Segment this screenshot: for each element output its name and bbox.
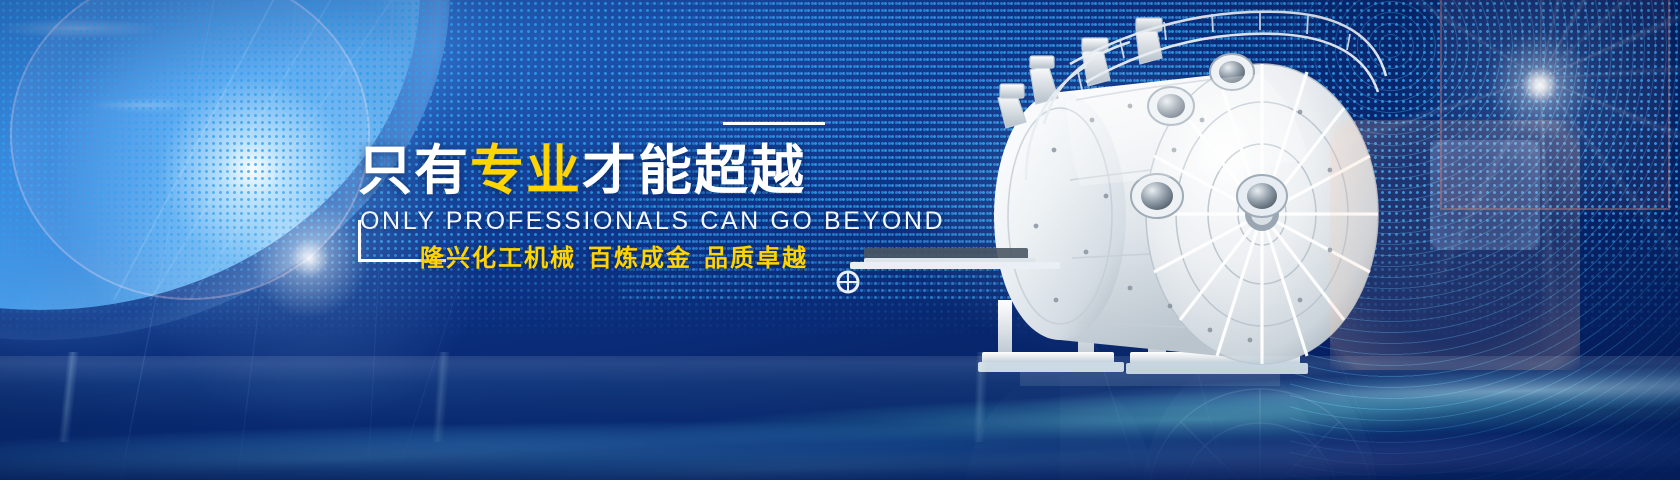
concentric-arcs-icon [1290,0,1680,480]
bracket-bottom-left-stem [358,220,361,262]
vignette-overlay [0,0,1680,480]
tagline-part-3: 品质卓越 [704,245,808,272]
hero-banner: 只有专业才能超越 ONLY PROFESSIONALS CAN GO BEYON… [0,0,1680,480]
diagonal-light-beams [0,0,1680,480]
headline-prefix: 只有 [358,141,470,201]
headline-suffix: 才能超越 [582,141,806,201]
aurora-thin-streaks [0,352,1680,442]
aurora-light-streaks [0,305,1680,480]
lens-flare-ring-right [1440,0,1670,210]
lens-flare-rays [1300,0,1680,380]
bracket-top-right-line [723,122,825,125]
machine-backlight-glow [880,30,1380,370]
lens-flare-ring-left [10,0,370,300]
tagline-part-2: 百炼成金 [588,245,692,272]
banner-subline: ONLY PROFESSIONALS CAN GO BEYOND [360,206,945,236]
floor-bottom-fade [0,408,1680,480]
industrial-pressure-vessel [830,0,1390,480]
headline-highlight: 专业 [470,141,582,201]
lens-flare-star [1330,0,1680,250]
banner-headline: 只有专业才能超越 [358,140,806,202]
world-map-dot-grid [0,0,1680,340]
lens-flare-ghost-2 [1430,140,1540,250]
reflective-floor [0,356,1680,480]
banner-tagline: 隆兴化工机械百炼成金品质卓越 [420,244,808,274]
tagline-part-1: 隆兴化工机械 [420,245,576,272]
concentric-arcs-outer [1180,0,1680,480]
background-gradient [0,0,1680,480]
lens-flare-ghost-1 [1330,120,1580,370]
banner-text-block: 只有专业才能超越 ONLY PROFESSIONALS CAN GO BEYON… [330,120,830,280]
